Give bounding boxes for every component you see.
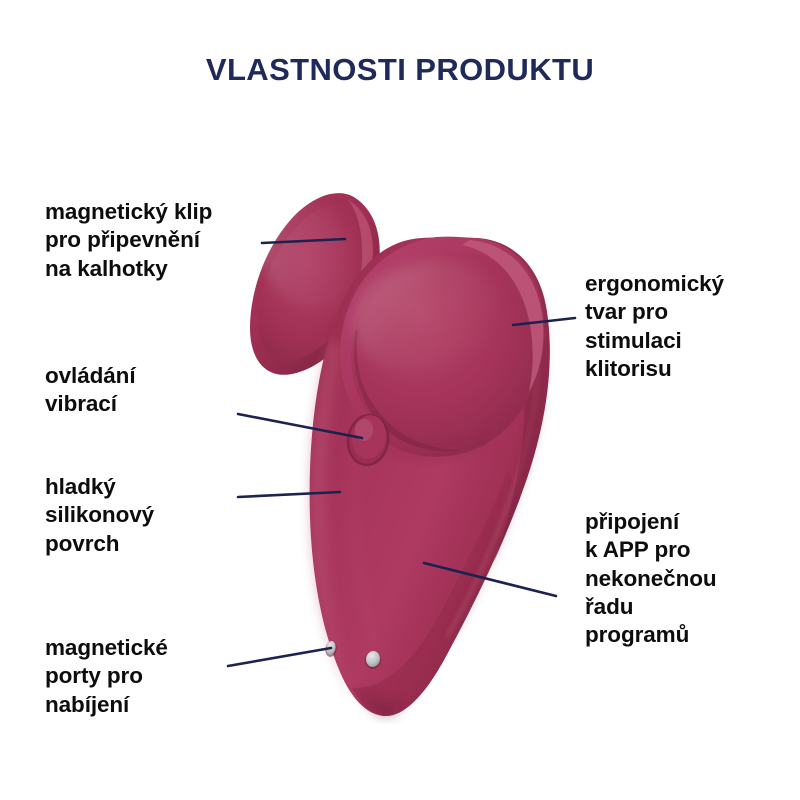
product-illustration bbox=[0, 0, 800, 800]
product-features-infographic: VLASTNOSTI PRODUKTU bbox=[0, 0, 800, 800]
